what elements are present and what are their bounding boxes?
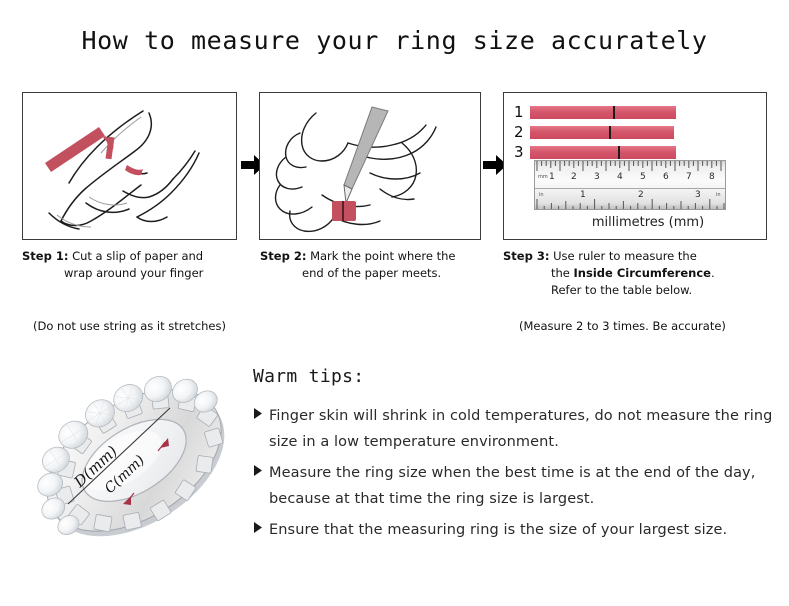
paper-strip-1 (530, 106, 676, 119)
ruler-cm-1: 1 (549, 173, 555, 182)
step-1-line2: wrap around your finger (22, 265, 252, 282)
step-2-caption: Step 2: Mark the point where the end of … (260, 248, 492, 282)
ruler-metric-scale: mm 1 2 3 4 5 6 7 8 (535, 161, 725, 188)
measured-strip-row-3: 3 (514, 145, 676, 160)
warm-tip-text: Finger skin will shrink in cold temperat… (269, 403, 773, 455)
strip-number-2: 2 (514, 125, 530, 140)
step-panels-row: 1 2 3 mm 1 2 3 4 5 6 (0, 92, 789, 240)
measured-strip-row-1: 1 (514, 105, 676, 120)
page-title: How to measure your ring size accurately (0, 26, 789, 55)
paper-strip-2 (530, 126, 674, 139)
strip-mark-3 (618, 146, 620, 159)
ruler-graphic: mm 1 2 3 4 5 6 7 8 (534, 160, 726, 210)
step-2-illustration-panel (259, 92, 481, 240)
measured-strip-row-2: 2 (514, 125, 674, 140)
step-2-line1: Mark the point where the (310, 249, 455, 263)
hand-with-paper-strip-drawing (23, 93, 236, 239)
step-3-note: (Measure 2 to 3 times. Be accurate) (519, 318, 726, 334)
ruler-unit-caption: millimetres (mm) (504, 215, 766, 230)
ruler-mm-unit-label: mm (538, 175, 548, 180)
hand-marking-with-pen-drawing (260, 93, 480, 239)
step-3-line1: Use ruler to measure the (553, 249, 697, 263)
ring-photo: D(mm) C(mm) (18, 352, 246, 570)
warm-tip-item: Finger skin will shrink in cold temperat… (253, 403, 773, 455)
ruler-cm-8: 8 (709, 173, 715, 182)
step-3-label: Step 3: (503, 249, 549, 263)
ruler-imperial-scale: 1 2 3 in in (535, 188, 725, 210)
step-2-line2: end of the paper meets. (260, 265, 492, 282)
ruler-cm-2: 2 (571, 173, 577, 182)
step-1-label: Step 1: (22, 249, 68, 263)
strip-mark-2 (609, 126, 611, 139)
warm-tip-item: Measure the ring size when the best time… (253, 460, 773, 512)
step-1-line1: Cut a slip of paper and (72, 249, 203, 263)
step-2-label: Step 2: (260, 249, 306, 263)
step-3-caption: Step 3: Use ruler to measure the the Ins… (503, 248, 771, 299)
step-3-line2: the Inside Circumference. (503, 265, 771, 282)
step-1-illustration-panel (22, 92, 237, 240)
step-1-note: (Do not use string as it stretches) (33, 318, 226, 334)
step-3-line2-bold: Inside Circumference (574, 266, 711, 280)
strip-number-1: 1 (514, 105, 530, 120)
warm-tips-title: Warm tips: (253, 366, 773, 387)
strip-number-3: 3 (514, 145, 530, 160)
triangle-bullet-icon (253, 460, 269, 476)
step-1-caption: Step 1: Cut a slip of paper and wrap aro… (22, 248, 252, 282)
step-3-line2-prefix: the (551, 266, 574, 280)
step-3-line2-suffix: . (711, 266, 715, 280)
warm-tip-item: Ensure that the measuring ring is the si… (253, 517, 773, 543)
warm-tip-text: Ensure that the measuring ring is the si… (269, 517, 727, 543)
paper-strip-3 (530, 146, 676, 159)
step-3-ruler-panel: 1 2 3 mm 1 2 3 4 5 6 (503, 92, 767, 240)
ruler-cm-5: 5 (640, 173, 646, 182)
pen-icon (342, 107, 388, 209)
ruler-metric-ticks (535, 161, 726, 173)
strip-mark-1 (613, 106, 615, 119)
triangle-bullet-icon (253, 517, 269, 533)
ruler-cm-7: 7 (686, 173, 692, 182)
paper-strip-red (332, 201, 356, 221)
ruler-cm-6: 6 (663, 173, 669, 182)
warm-tip-text: Measure the ring size when the best time… (269, 460, 773, 512)
warm-tips-section: Warm tips: Finger skin will shrink in co… (253, 366, 773, 548)
triangle-bullet-icon (253, 403, 269, 419)
step-3-line3: Refer to the table below. (503, 282, 771, 299)
ruler-cm-3: 3 (594, 173, 600, 182)
ruler-cm-4: 4 (617, 173, 623, 182)
ruler-imperial-ticks (535, 197, 726, 210)
